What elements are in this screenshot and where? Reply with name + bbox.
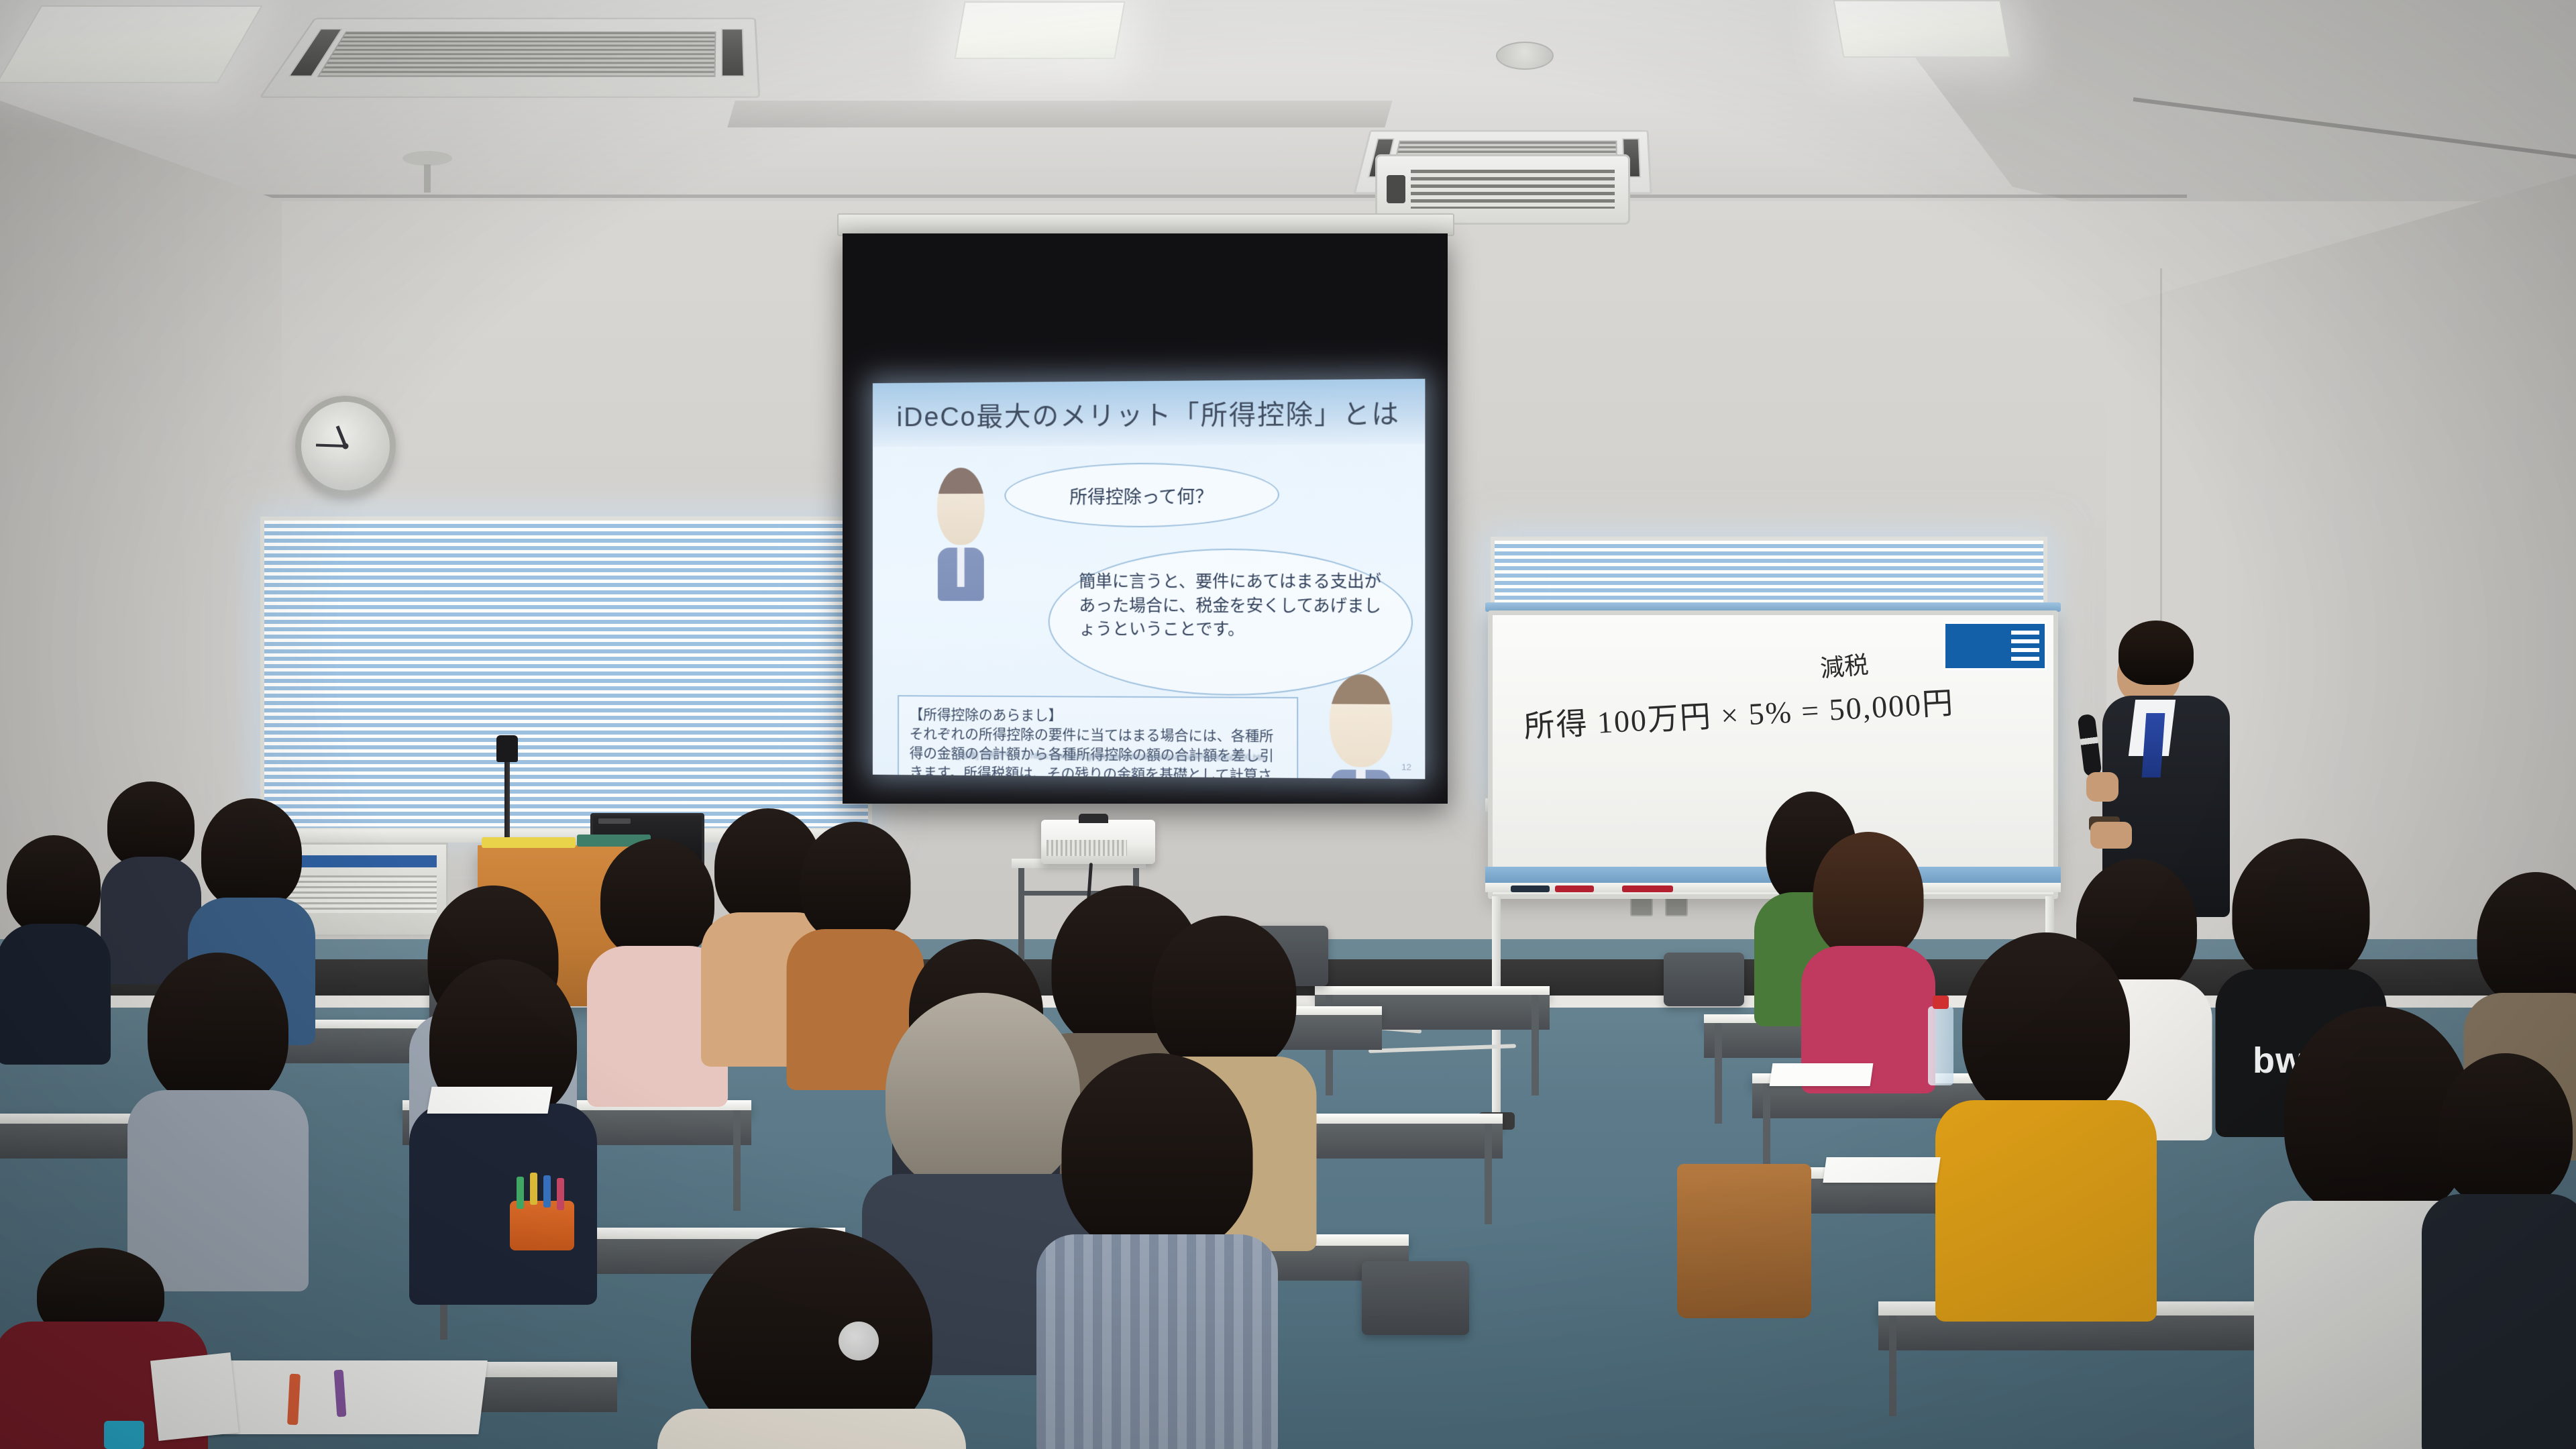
audience-member bbox=[1046, 1053, 1268, 1449]
person-torso bbox=[657, 1409, 966, 1449]
avatar-head bbox=[1330, 674, 1393, 767]
chair-back bbox=[1664, 953, 1744, 1006]
pen[interactable] bbox=[543, 1175, 551, 1207]
ac-knob bbox=[1387, 175, 1405, 203]
ceiling-light-panel bbox=[954, 1, 1125, 59]
person-torso bbox=[0, 924, 111, 1065]
presenter-hand bbox=[2086, 772, 2118, 802]
ceiling-seam bbox=[0, 195, 2187, 198]
avatar-body bbox=[938, 547, 983, 600]
desk-leg bbox=[733, 1110, 741, 1211]
ac-vent-slot bbox=[721, 29, 745, 76]
lectern-yellow-item bbox=[482, 837, 576, 848]
person-hair bbox=[1062, 1053, 1253, 1254]
avatar-body bbox=[1331, 769, 1391, 779]
pen-case[interactable] bbox=[510, 1201, 574, 1250]
blind-cord[interactable] bbox=[338, 521, 340, 828]
handout-paper[interactable] bbox=[150, 1352, 239, 1441]
handout-paper[interactable] bbox=[1823, 1157, 1940, 1183]
pen[interactable] bbox=[517, 1177, 524, 1209]
projection-screen-assembly: iDeCo最大のメリット「所得控除」とは 所得控除って何？ 簡単に言うと、要件に… bbox=[837, 213, 1454, 817]
desk bbox=[1315, 986, 1550, 1000]
slide-avatar-answer bbox=[1330, 674, 1393, 779]
person-hair bbox=[2477, 872, 2576, 1006]
desk-leg bbox=[1715, 1023, 1722, 1124]
wall-clock bbox=[295, 396, 396, 496]
handout-paper[interactable] bbox=[427, 1087, 552, 1114]
chair-back bbox=[1362, 1261, 1469, 1335]
presenter-hand bbox=[2090, 822, 2132, 849]
projector-lens-icon bbox=[1079, 814, 1108, 823]
person-torso bbox=[2422, 1194, 2576, 1449]
projection-screen: iDeCo最大のメリット「所得控除」とは 所得控除って何？ 簡単に言うと、要件に… bbox=[843, 233, 1448, 804]
desk-leg bbox=[1532, 995, 1539, 1095]
person-torso bbox=[1036, 1234, 1278, 1449]
ceiling-beam bbox=[727, 101, 1392, 127]
slide-source-line: [出典] 国税庁サイト https://www.nta.go.jp/taxes/… bbox=[958, 749, 1267, 763]
person-hair bbox=[1813, 832, 1924, 959]
whiteboard-marker-red[interactable] bbox=[1555, 885, 1594, 892]
audience-member bbox=[1805, 832, 1932, 1073]
desk-leg bbox=[1889, 1316, 1896, 1416]
blind-cord[interactable] bbox=[779, 521, 781, 828]
ceiling-ac-cassette bbox=[259, 18, 761, 98]
whiteboard-marker-black[interactable] bbox=[1511, 885, 1550, 892]
screen-roller-housing bbox=[837, 213, 1454, 236]
whiteboard-sticker bbox=[1943, 622, 2047, 670]
person-hair bbox=[800, 822, 911, 943]
slide-page-number: 12 bbox=[1401, 762, 1411, 772]
ceiling-light-panel bbox=[0, 5, 262, 83]
sprinkler-head-icon bbox=[402, 151, 452, 166]
audience-member bbox=[2428, 1053, 2576, 1449]
pen[interactable] bbox=[557, 1178, 564, 1210]
audience-member bbox=[1945, 932, 2147, 1308]
audience-member bbox=[0, 835, 107, 1057]
whiteboard-equation: 所得 100万円 × 5% = 50,000円 bbox=[1523, 678, 1955, 747]
tote-bag[interactable] bbox=[1677, 1164, 1811, 1318]
slide-title-band: iDeCo最大のメリット「所得控除」とは bbox=[873, 379, 1425, 447]
hair-ornament bbox=[839, 1322, 879, 1360]
slide-question-bubble: 所得控除って何？ bbox=[1004, 462, 1279, 527]
whiteboard-marker-red[interactable] bbox=[1622, 885, 1673, 892]
slide-info-box: 【所得控除のあらまし】 それぞれの所得控除の要件に当てはまる場合には、各種所得の… bbox=[898, 695, 1298, 779]
slide-title: iDeCo最大のメリット「所得控除」とは bbox=[897, 392, 1401, 434]
projected-slide: iDeCo最大のメリット「所得控除」とは 所得控除って何？ 簡単に言うと、要件に… bbox=[873, 379, 1425, 780]
person-hair bbox=[600, 839, 714, 959]
window-blinds-left bbox=[260, 517, 872, 832]
handout-paper[interactable] bbox=[1770, 1063, 1874, 1086]
smoke-detector-icon bbox=[1496, 42, 1554, 70]
person-hair bbox=[1152, 916, 1297, 1073]
clock-minute-hand bbox=[316, 443, 345, 447]
projector bbox=[1041, 820, 1155, 864]
person-hair bbox=[2233, 839, 2370, 983]
ac-grille bbox=[317, 32, 716, 77]
ceiling-light-panel bbox=[1833, 0, 2010, 58]
audience-member bbox=[671, 1228, 953, 1449]
classroom-seminar-photo: iDeCo最大のメリット「所得控除」とは 所得控除って何？ 簡単に言うと、要件に… bbox=[0, 0, 2576, 1449]
slide-avatar-question bbox=[937, 468, 985, 601]
person-torso bbox=[1935, 1100, 2157, 1322]
ac-fins bbox=[1411, 170, 1615, 209]
whiteboard-annotation: 減税 bbox=[1819, 645, 1870, 684]
blue-object[interactable] bbox=[104, 1421, 144, 1449]
avatar-head bbox=[937, 468, 985, 545]
presenter-hair bbox=[2118, 621, 2194, 685]
person-hair bbox=[107, 782, 195, 869]
projector-vent bbox=[1046, 840, 1127, 856]
desk-leg bbox=[1485, 1124, 1492, 1224]
clock-center-pin bbox=[343, 443, 349, 449]
person-hair bbox=[7, 835, 101, 936]
person-hair bbox=[2438, 1053, 2573, 1207]
water-bottle[interactable] bbox=[1928, 1006, 1953, 1085]
slide-info-heading: 【所得控除のあらまし】 bbox=[910, 706, 1286, 727]
person-hair bbox=[148, 953, 288, 1107]
person-hair bbox=[1962, 932, 2130, 1120]
audience-member bbox=[134, 953, 302, 1268]
person-hair bbox=[201, 798, 302, 909]
pen[interactable] bbox=[530, 1173, 537, 1205]
